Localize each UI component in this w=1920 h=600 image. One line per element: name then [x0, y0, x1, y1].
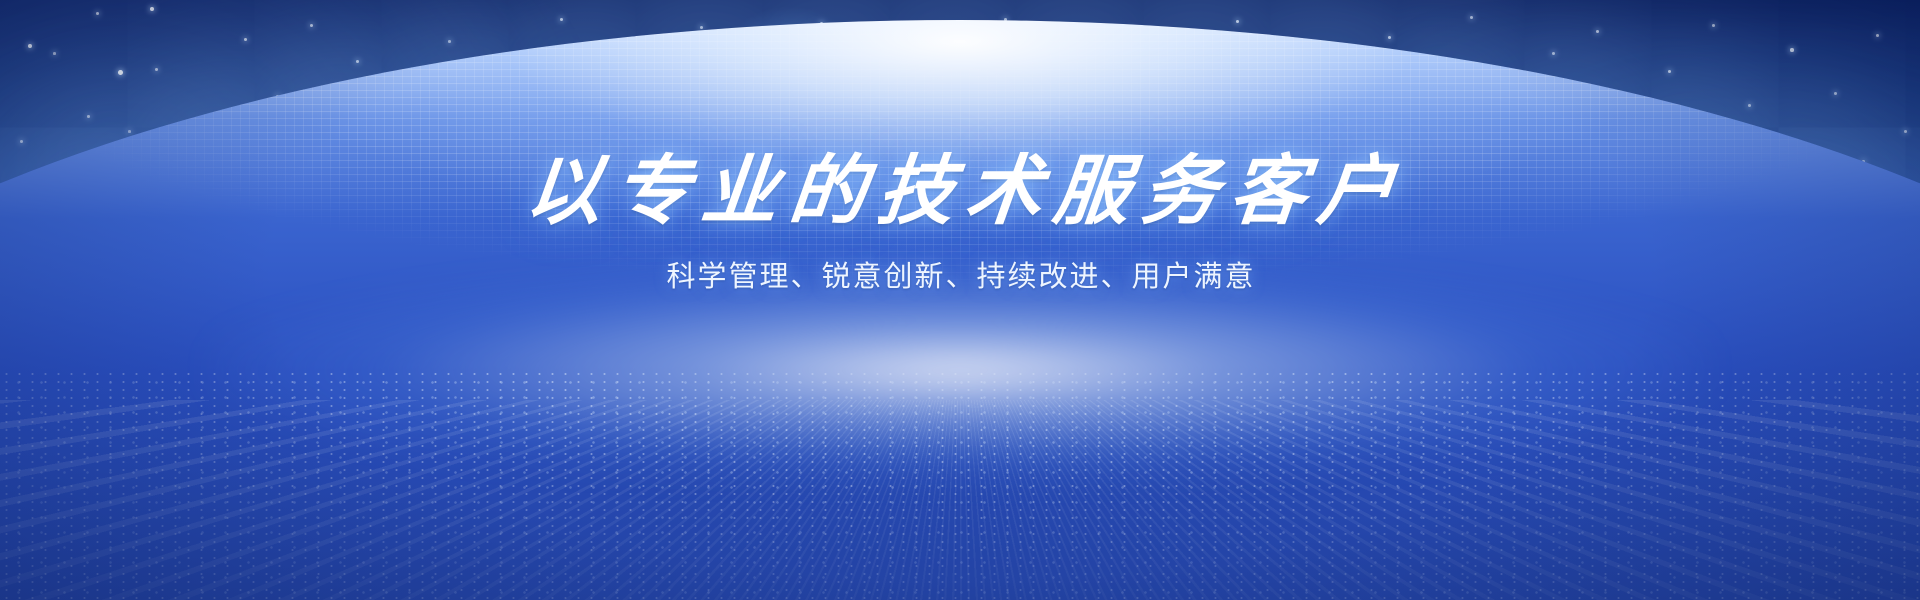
banner-subheadline: 科学管理、锐意创新、持续改进、用户满意: [0, 258, 1920, 296]
star: [150, 7, 154, 11]
hero-banner: 以专业的技术服务客户 科学管理、锐意创新、持续改进、用户满意: [0, 0, 1920, 600]
banner-headline: 以专业的技术服务客户: [0, 150, 1920, 232]
star: [96, 12, 99, 15]
city-lights-speckle: [0, 370, 1920, 600]
star: [1470, 16, 1473, 19]
banner-copy: 以专业的技术服务客户 科学管理、锐意创新、持续改进、用户满意: [0, 150, 1920, 296]
